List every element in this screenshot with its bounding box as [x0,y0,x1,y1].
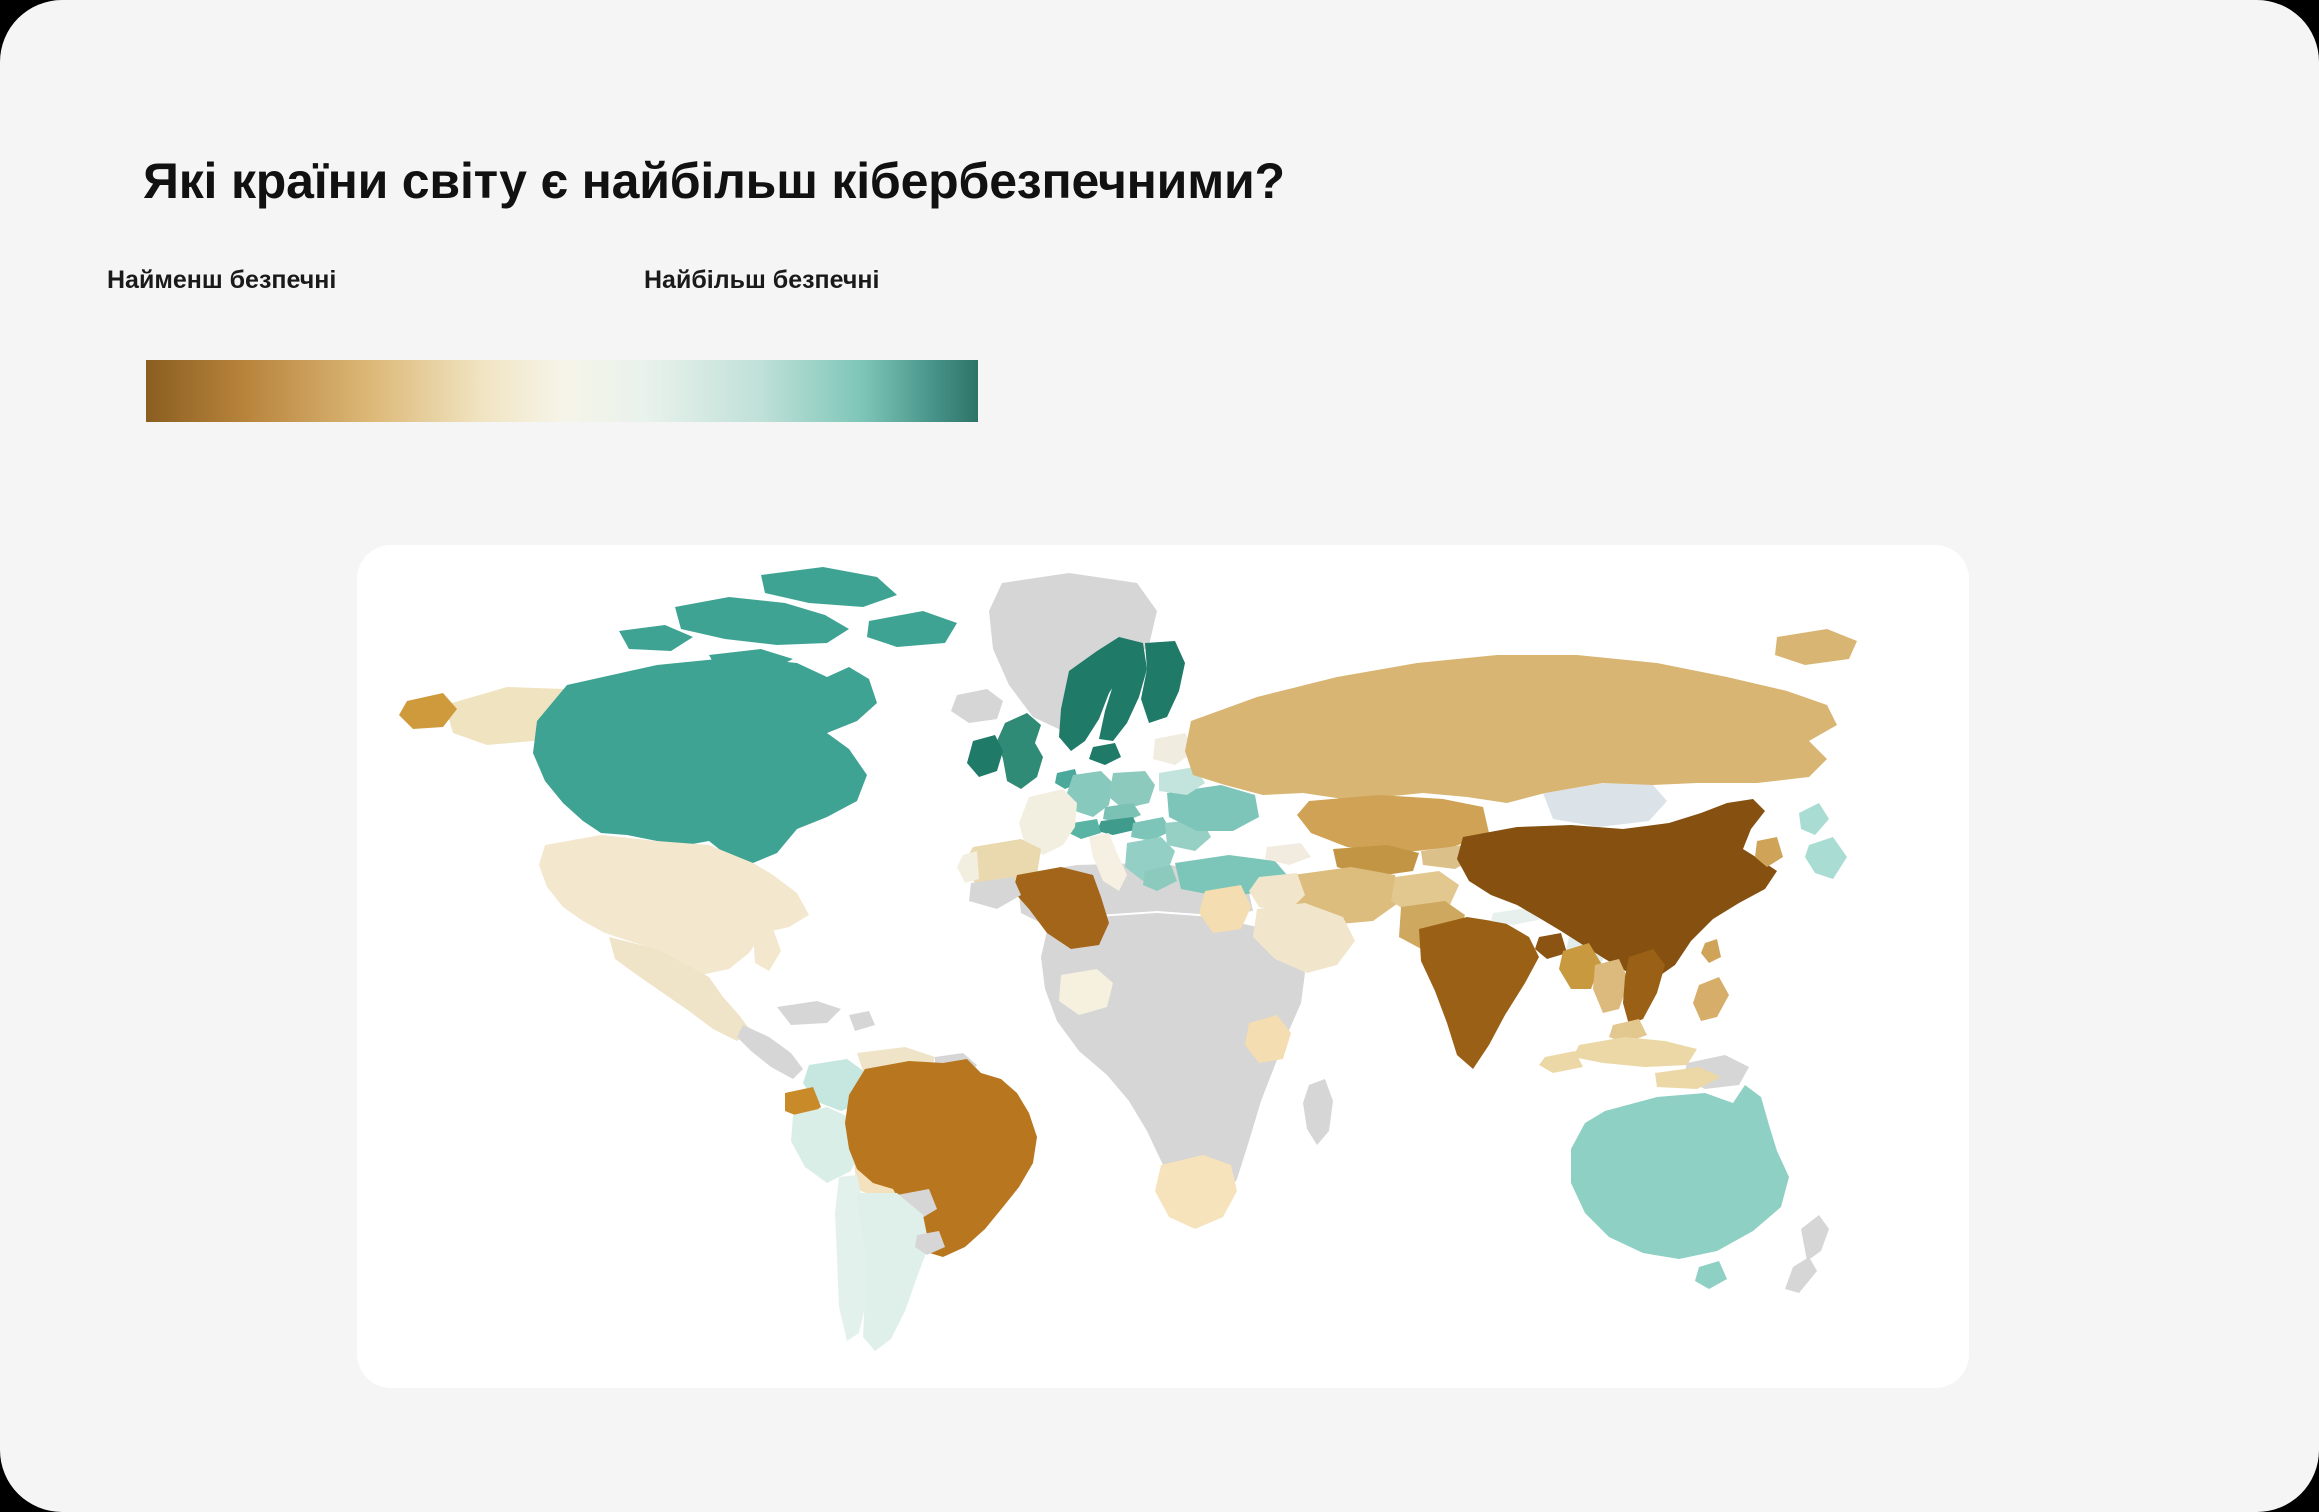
region-kazakhstan[interactable] [1297,795,1489,853]
region-russia[interactable] [1185,655,1837,803]
region-caribbean[interactable] [777,1001,875,1031]
map-oceania [1571,1085,1789,1289]
region-taiwan[interactable] [1701,939,1721,963]
region-alaska-west[interactable] [399,693,457,729]
region-united-kingdom[interactable] [997,713,1043,789]
region-new-zealand[interactable] [1785,1215,1829,1293]
region-us-florida[interactable] [753,929,781,971]
region-portugal[interactable] [957,851,979,883]
region-tasmania[interactable] [1695,1261,1727,1289]
region-canada-arctic-islands[interactable] [619,567,957,671]
region-argentina[interactable] [857,1193,929,1351]
legend-gradient-svg [146,360,978,422]
region-south-africa[interactable] [1155,1155,1237,1229]
region-finland[interactable] [1141,641,1185,723]
region-hungary[interactable] [1131,817,1171,841]
world-map-card[interactable] [357,545,1969,1388]
legend-gradient-bar [146,360,978,422]
region-vietnam[interactable] [1623,949,1665,1025]
page-root: Які країни світу є найбільш кібербезпечн… [0,0,2319,1512]
region-russia-east-cap[interactable] [1775,629,1857,665]
region-japan[interactable] [1799,803,1847,879]
region-australia[interactable] [1571,1085,1789,1259]
region-canada[interactable] [533,657,877,863]
region-central-america[interactable] [737,1025,803,1079]
region-iceland[interactable] [951,689,1003,723]
legend-label-least-secure: Найменш безпечні [107,266,336,295]
region-madagascar[interactable] [1303,1079,1333,1145]
legend-label-most-secure: Найбільш безпечні [644,266,879,295]
region-philippines[interactable] [1693,977,1729,1021]
region-india[interactable] [1419,917,1539,1069]
world-choropleth-map[interactable] [357,545,1969,1388]
region-ireland[interactable] [967,735,1003,777]
region-denmark[interactable] [1089,743,1121,765]
page-title: Які країни світу є найбільш кібербезпечн… [143,152,1285,210]
map-americas [399,567,1037,1351]
